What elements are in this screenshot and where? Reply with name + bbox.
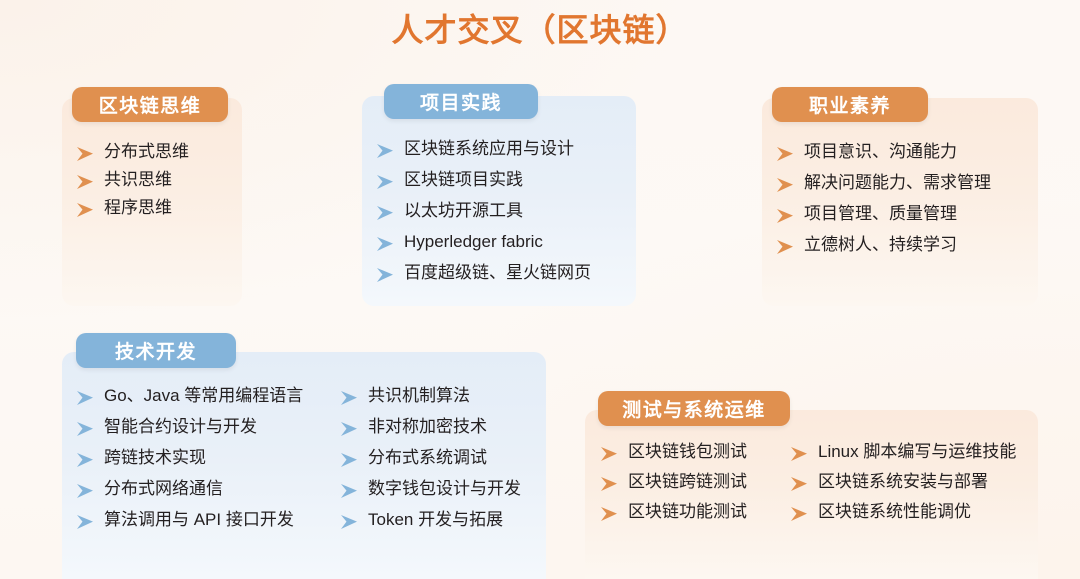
list-item: 以太坊开源工具 [376,201,591,221]
list-item: 数字钱包设计与开发 [340,479,521,499]
item-list-testing-and-ops: 区块链钱包测试 区块链跨链测试 区块链功能测试 Linux 脚本编写与运维 [600,442,1016,532]
arrow-right-icon [776,206,795,226]
list-item-label: 区块链功能测试 [628,502,747,522]
list-item-label: 以太坊开源工具 [404,201,523,221]
list-item: 分布式思维 [76,142,189,162]
list-item: 共识思维 [76,170,189,190]
list-item-label: 共识思维 [104,170,172,190]
card-header-label: 项目实践 [420,88,502,115]
list-item-label: 分布式系统调试 [368,448,487,468]
list-item: 跨链技术实现 [76,448,340,468]
arrow-right-icon [376,265,395,285]
arrow-right-icon [340,481,359,501]
list-item-label: 智能合约设计与开发 [104,417,257,437]
list-item: 百度超级链、星火链网页 [376,263,591,283]
arrow-right-icon [376,141,395,161]
list-item: 智能合约设计与开发 [76,417,340,437]
card-header-label: 职业素养 [809,91,891,118]
arrow-right-icon [600,444,619,464]
list-item-label: 解决问题能力、需求管理 [804,173,991,193]
list-item-label: 项目意识、沟通能力 [804,142,957,162]
item-column-left: 区块链钱包测试 区块链跨链测试 区块链功能测试 [600,442,790,532]
list-item-label: 立德树人、持续学习 [804,235,957,255]
list-item: Linux 脚本编写与运维技能 [790,442,1016,462]
arrow-right-icon [790,504,809,524]
list-item: 区块链系统安装与部署 [790,472,1016,492]
arrow-right-icon [76,200,95,220]
list-item: 区块链钱包测试 [600,442,790,462]
page-title: 人才交叉（区块链） [0,8,1080,52]
list-item: 区块链项目实践 [376,170,591,190]
arrow-right-icon [76,388,95,408]
arrow-right-icon [600,474,619,494]
arrow-right-icon [340,512,359,532]
list-item-label: Go、Java 等常用编程语言 [104,386,303,406]
arrow-right-icon [76,172,95,192]
item-list-professional-quality: 项目意识、沟通能力 解决问题能力、需求管理 项目管理、质量管理 立德树人、持续学… [776,142,991,266]
card-header-professional-quality[interactable]: 职业素养 [772,87,928,122]
arrow-right-icon [340,450,359,470]
arrow-right-icon [76,481,95,501]
item-list-technical-development: Go、Java 等常用编程语言 智能合约设计与开发 跨链技术实现 分布式网络通信 [76,386,521,541]
list-item: Hyperledger fabric [376,232,591,252]
list-item: 解决问题能力、需求管理 [776,173,991,193]
card-header-testing-and-ops[interactable]: 测试与系统运维 [598,391,790,426]
arrow-right-icon [776,144,795,164]
arrow-right-icon [340,388,359,408]
list-item: Token 开发与拓展 [340,510,521,530]
list-item: 区块链功能测试 [600,502,790,522]
list-item-label: 区块链系统安装与部署 [818,472,988,492]
list-item-label: 区块链系统应用与设计 [404,139,574,159]
list-item-label: 区块链系统性能调优 [818,502,971,522]
arrow-right-icon [340,419,359,439]
list-item: 区块链系统性能调优 [790,502,1016,522]
arrow-right-icon [776,237,795,257]
card-header-label: 技术开发 [115,337,197,364]
item-list-blockchain-thinking: 分布式思维 共识思维 程序思维 [76,142,189,226]
list-item: 非对称加密技术 [340,417,521,437]
list-item-label: 程序思维 [104,198,172,218]
list-item: 项目意识、沟通能力 [776,142,991,162]
card-header-project-practice[interactable]: 项目实践 [384,84,538,119]
list-item: 立德树人、持续学习 [776,235,991,255]
list-item: 区块链跨链测试 [600,472,790,492]
item-column-right: Linux 脚本编写与运维技能 区块链系统安装与部署 区块链系统性能调优 [790,442,1016,532]
arrow-right-icon [790,474,809,494]
list-item-label: Token 开发与拓展 [368,510,503,530]
item-column-right: 共识机制算法 非对称加密技术 分布式系统调试 数字钱包设计与开发 [340,386,521,541]
list-item-label: 数字钱包设计与开发 [368,479,521,499]
list-item: 程序思维 [76,198,189,218]
item-column-left: Go、Java 等常用编程语言 智能合约设计与开发 跨链技术实现 分布式网络通信 [76,386,340,541]
card-header-label: 区块链思维 [99,91,202,118]
arrow-right-icon [600,504,619,524]
arrow-right-icon [376,234,395,254]
arrow-right-icon [376,172,395,192]
list-item: 分布式网络通信 [76,479,340,499]
list-item-label: 区块链跨链测试 [628,472,747,492]
card-header-technical-development[interactable]: 技术开发 [76,333,236,368]
list-item-label: 区块链项目实践 [404,170,523,190]
list-item-label: Hyperledger fabric [404,232,543,252]
arrow-right-icon [76,512,95,532]
arrow-right-icon [76,144,95,164]
list-item: 区块链系统应用与设计 [376,139,591,159]
card-header-label: 测试与系统运维 [622,395,766,422]
arrow-right-icon [790,444,809,464]
list-item-label: Linux 脚本编写与运维技能 [818,442,1016,462]
arrow-right-icon [76,419,95,439]
list-item: 项目管理、质量管理 [776,204,991,224]
list-item-label: 百度超级链、星火链网页 [404,263,591,283]
list-item-label: 非对称加密技术 [368,417,487,437]
list-item: 分布式系统调试 [340,448,521,468]
arrow-right-icon [76,450,95,470]
card-header-blockchain-thinking[interactable]: 区块链思维 [72,87,228,122]
list-item-label: 算法调用与 API 接口开发 [104,510,294,530]
list-item-label: 分布式网络通信 [104,479,223,499]
list-item: 算法调用与 API 接口开发 [76,510,340,530]
item-list-project-practice: 区块链系统应用与设计 区块链项目实践 以太坊开源工具 Hyperledger f… [376,139,591,294]
arrow-right-icon [776,175,795,195]
list-item-label: 分布式思维 [104,142,189,162]
list-item-label: 区块链钱包测试 [628,442,747,462]
list-item: Go、Java 等常用编程语言 [76,386,340,406]
list-item-label: 共识机制算法 [368,386,470,406]
list-item-label: 跨链技术实现 [104,448,206,468]
arrow-right-icon [376,203,395,223]
poster-canvas: 人才交叉（区块链） 区块链思维 分布式思维 共识思维 程序思维 项目实践 [0,0,1080,579]
list-item-label: 项目管理、质量管理 [804,204,957,224]
list-item: 共识机制算法 [340,386,521,406]
